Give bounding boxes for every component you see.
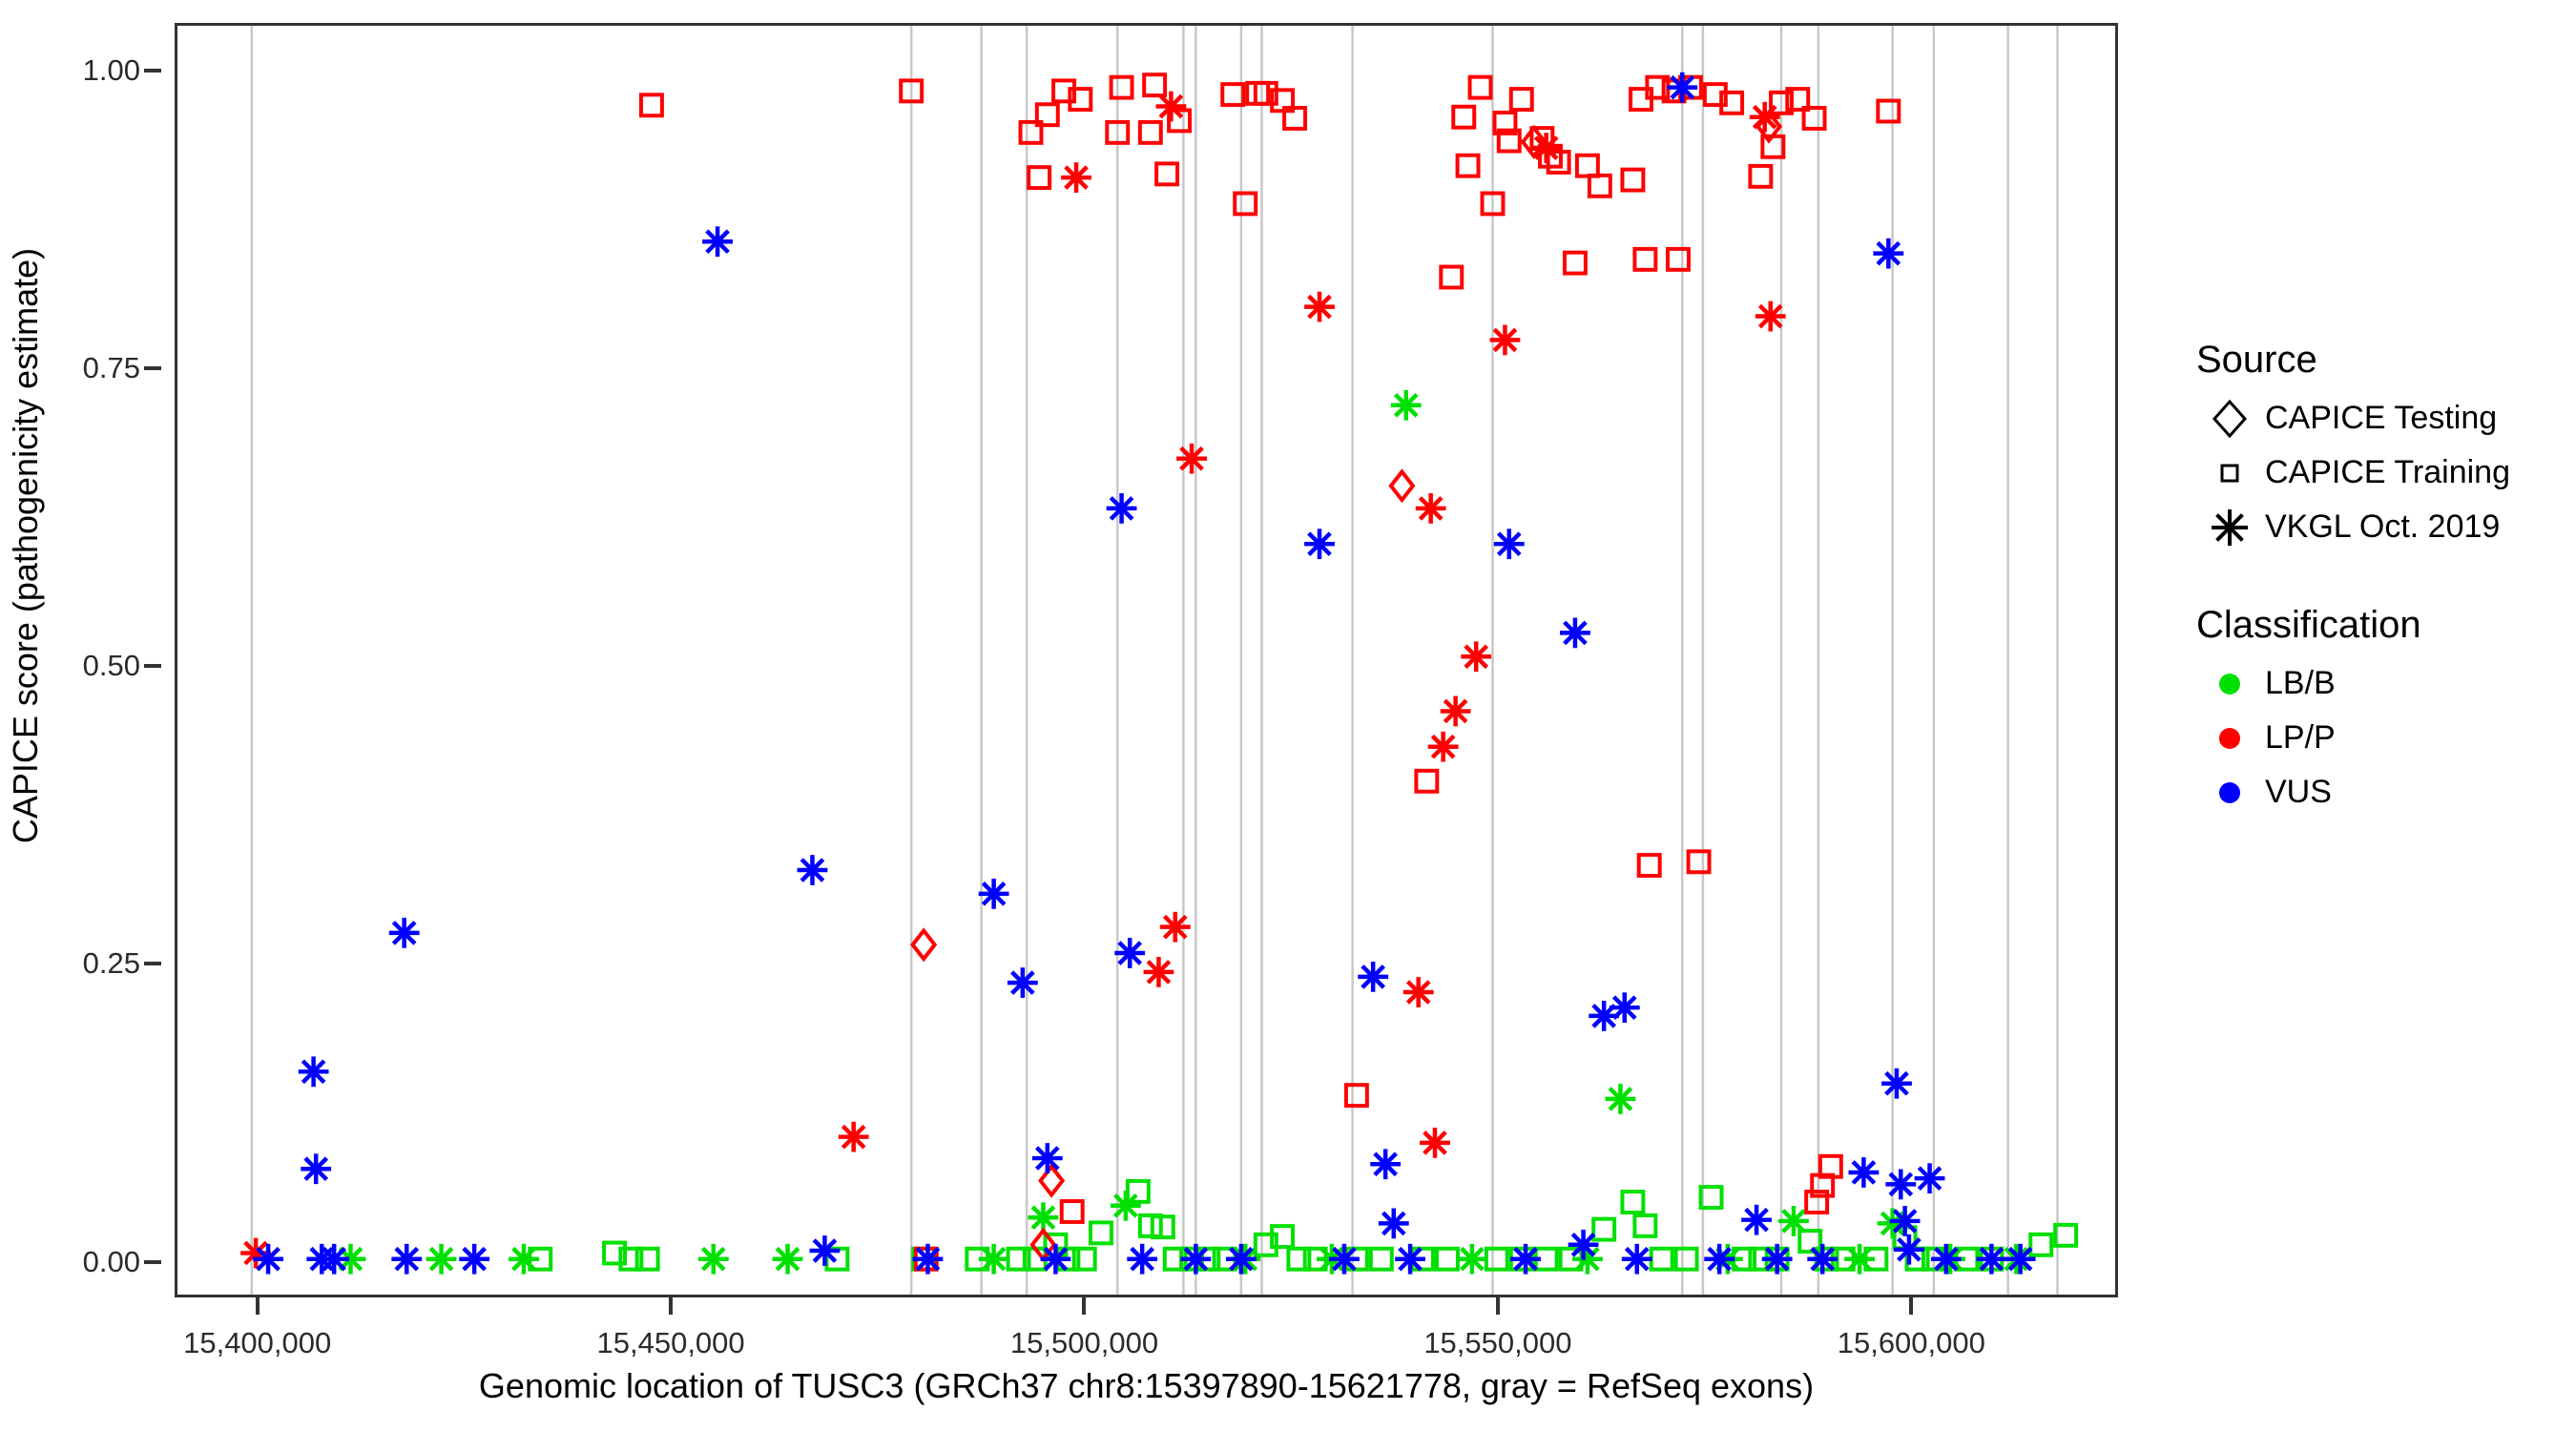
data-point <box>1750 166 1771 187</box>
square-marker-icon <box>2205 448 2254 498</box>
legend-source-label: CAPICE Training <box>2265 454 2510 491</box>
data-point <box>1428 732 1459 762</box>
data-point <box>1028 167 1049 188</box>
plot-panel <box>175 23 2118 1297</box>
legend-classification-label: LB/B <box>2265 665 2336 702</box>
data-point <box>1531 133 1562 163</box>
y-axis-tick <box>144 69 161 73</box>
data-point <box>1140 122 1161 143</box>
x-axis-title: Genomic location of TUSC3 (GRCh37 chr8:1… <box>175 1366 2118 1406</box>
data-point <box>1511 89 1532 110</box>
y-axis-tick <box>144 1260 161 1264</box>
data-point <box>1931 1244 1962 1275</box>
data-point <box>1490 325 1521 356</box>
y-axis-tick <box>144 366 161 370</box>
y-axis-title: CAPICE score (pathogenicity estimate) <box>6 21 46 1070</box>
data-point <box>1610 992 1640 1023</box>
data-point <box>1304 292 1335 322</box>
legend-classification-rows: LB/BLP/PVUS <box>2194 656 2566 819</box>
x-axis-tick-label: 15,400,000 <box>183 1326 331 1360</box>
data-point <box>1140 1215 1161 1236</box>
x-axis-tick <box>256 1297 260 1315</box>
dot-marker-icon <box>2205 659 2254 709</box>
data-point <box>1041 1244 1071 1275</box>
data-point <box>1458 156 1479 176</box>
plot-area <box>177 26 2115 1295</box>
data-point <box>253 1244 283 1275</box>
legend-classification-key <box>2194 659 2265 709</box>
data-point <box>426 1244 457 1275</box>
data-point <box>1235 193 1256 214</box>
legend-classification-label: LP/P <box>2265 719 2336 757</box>
data-point <box>1180 1244 1211 1275</box>
data-point <box>1577 156 1598 176</box>
data-point <box>1437 1249 1458 1270</box>
data-point <box>1589 176 1610 197</box>
data-point <box>1358 962 1388 992</box>
legend-source-item[interactable]: CAPICE Training <box>2194 446 2566 500</box>
y-axis-tick <box>144 962 161 965</box>
data-point <box>979 1244 1009 1275</box>
data-point <box>1704 1244 1735 1275</box>
data-point <box>1222 84 1243 105</box>
data-point <box>1878 101 1899 122</box>
data-point <box>798 855 828 885</box>
data-point <box>2030 1234 2051 1255</box>
data-point <box>1420 1128 1450 1158</box>
data-point <box>702 226 733 257</box>
data-point <box>1741 1205 1772 1235</box>
data-point <box>1441 267 1462 288</box>
data-point <box>1144 74 1165 95</box>
legend-source-key <box>2194 503 2265 552</box>
legend-classification-key <box>2194 714 2265 763</box>
data-point <box>1755 301 1786 332</box>
y-axis-tick <box>144 664 161 668</box>
data-point <box>1453 107 1474 128</box>
dot-marker-icon <box>2205 714 2254 763</box>
legend-source-item[interactable]: VKGL Oct. 2019 <box>2194 500 2566 554</box>
legend: Source CAPICE TestingCAPICE TrainingVKGL… <box>2194 339 2566 869</box>
data-point <box>1807 1244 1838 1275</box>
data-point <box>901 80 922 101</box>
y-axis-tick-label: 0.00 <box>83 1245 140 1279</box>
legend-source-rows: CAPICE TestingCAPICE TrainingVKGL Oct. 2… <box>2194 391 2566 554</box>
data-point <box>1976 1244 2006 1275</box>
data-point <box>1416 771 1437 792</box>
x-axis-tick <box>1909 1297 1913 1315</box>
data-point <box>1111 1191 1141 1221</box>
data-point <box>1622 170 1643 191</box>
diamond-marker-icon <box>2205 394 2254 444</box>
data-point <box>1634 1215 1655 1236</box>
data-point <box>1403 977 1434 1007</box>
data-point <box>1667 73 1697 103</box>
data-point <box>1634 249 1655 270</box>
data-point <box>1395 1244 1425 1275</box>
y-axis-tick-label: 0.25 <box>83 946 140 981</box>
data-point <box>1107 122 1128 143</box>
data-point <box>1565 253 1586 274</box>
data-point <box>1032 1143 1063 1173</box>
data-point <box>1247 83 1268 104</box>
data-point <box>641 94 662 115</box>
x-axis: 15,400,00015,450,00015,500,00015,550,000… <box>0 1297 2576 1364</box>
data-point <box>1606 1084 1636 1114</box>
data-point <box>913 931 935 960</box>
x-axis-tick <box>1082 1297 1086 1315</box>
data-point <box>1881 1068 1912 1099</box>
data-point <box>810 1235 841 1266</box>
x-axis-tick-label: 15,500,000 <box>1010 1326 1158 1360</box>
data-point <box>1391 471 1413 500</box>
data-point <box>1160 912 1191 943</box>
data-point <box>1346 1085 1367 1106</box>
data-point <box>1061 162 1091 193</box>
data-point <box>1568 1230 1599 1260</box>
legend-title-source: Source <box>2196 339 2566 382</box>
data-point <box>319 1244 349 1275</box>
legend-source-item[interactable]: CAPICE Testing <box>2194 391 2566 446</box>
data-point <box>1470 77 1491 98</box>
data-point <box>1652 1249 1672 1270</box>
data-point <box>1668 249 1689 270</box>
data-point <box>1441 696 1471 727</box>
data-point <box>301 1153 331 1184</box>
legend-source-label: CAPICE Testing <box>2265 400 2497 437</box>
data-point <box>1111 77 1132 98</box>
data-point <box>2055 1225 2076 1246</box>
data-point <box>459 1244 489 1275</box>
data-point <box>2005 1244 2036 1275</box>
legend-source-key <box>2194 394 2265 444</box>
data-point <box>1091 1222 1111 1243</box>
data-point <box>1560 618 1590 649</box>
legend-classification-item[interactable]: VUS <box>2194 765 2566 819</box>
data-point <box>1622 1244 1652 1275</box>
data-point <box>1062 1201 1083 1222</box>
data-point <box>299 1056 329 1087</box>
data-point <box>1762 1244 1793 1275</box>
data-point <box>1156 92 1187 122</box>
data-point <box>913 1244 944 1275</box>
dot-marker-icon <box>2205 768 2254 818</box>
legend-classification-key <box>2194 768 2265 818</box>
data-point <box>1639 855 1660 876</box>
data-point <box>1329 1244 1360 1275</box>
data-point <box>773 1244 803 1275</box>
legend-classification-item[interactable]: LP/P <box>2194 711 2566 765</box>
data-point <box>1689 851 1710 872</box>
data-point <box>1416 493 1446 524</box>
data-point <box>391 1244 422 1275</box>
data-points-layer <box>177 26 2115 1295</box>
data-point <box>1486 1249 1507 1270</box>
data-point <box>1510 1244 1541 1275</box>
data-point <box>1379 1209 1409 1239</box>
data-point <box>979 879 1009 909</box>
data-point <box>1041 1167 1063 1195</box>
data-point <box>1370 1149 1401 1179</box>
data-point <box>1676 1249 1697 1270</box>
legend-classification-item[interactable]: LB/B <box>2194 656 2566 711</box>
legend-source-key <box>2194 448 2265 498</box>
x-axis-tick-label: 15,600,000 <box>1838 1326 1985 1360</box>
y-axis-tick-label: 1.00 <box>83 53 140 88</box>
data-point <box>1304 529 1335 559</box>
data-point <box>389 918 420 948</box>
data-point <box>1894 1234 1924 1265</box>
data-point <box>698 1244 729 1275</box>
data-point <box>1890 1206 1921 1236</box>
data-point <box>1873 238 1903 269</box>
x-axis-tick <box>669 1297 673 1315</box>
data-point <box>1127 1244 1157 1275</box>
y-axis-tick-label: 0.50 <box>83 649 140 683</box>
data-point <box>1885 1170 1916 1200</box>
legend-title-classification: Classification <box>2196 604 2566 647</box>
data-point <box>1153 1216 1174 1237</box>
data-point <box>1915 1163 1945 1193</box>
legend-group-source: Source CAPICE TestingCAPICE TrainingVKGL… <box>2194 339 2566 554</box>
data-point <box>1622 1192 1643 1213</box>
data-point <box>1008 967 1038 998</box>
x-axis-tick-label: 15,450,000 <box>597 1326 745 1360</box>
legend-source-label: VKGL Oct. 2019 <box>2265 508 2500 546</box>
data-point <box>1371 1249 1392 1270</box>
legend-classification-label: VUS <box>2265 774 2332 811</box>
data-point <box>1701 1187 1722 1208</box>
data-point <box>1494 529 1525 559</box>
asterisk-marker-icon <box>2205 503 2254 552</box>
data-point <box>1114 938 1145 968</box>
data-point <box>1226 1244 1257 1275</box>
data-point <box>1156 163 1177 184</box>
data-point <box>1144 957 1174 987</box>
x-axis-tick-label: 15,550,000 <box>1423 1326 1571 1360</box>
data-point <box>1107 493 1137 524</box>
data-point <box>1461 641 1491 672</box>
data-point <box>839 1122 869 1152</box>
data-point <box>1457 1244 1487 1275</box>
data-point <box>1848 1157 1879 1188</box>
legend-group-classification: Classification LB/BLP/PVUS <box>2194 604 2566 819</box>
chart-root: 0.000.250.500.751.00 CAPICE score (patho… <box>0 0 2576 1431</box>
data-point <box>1483 193 1504 214</box>
data-point <box>1176 444 1207 474</box>
x-axis-tick <box>1496 1297 1500 1315</box>
data-point <box>1593 1219 1614 1240</box>
data-point <box>1391 390 1422 421</box>
y-axis-tick-label: 0.75 <box>83 351 140 385</box>
